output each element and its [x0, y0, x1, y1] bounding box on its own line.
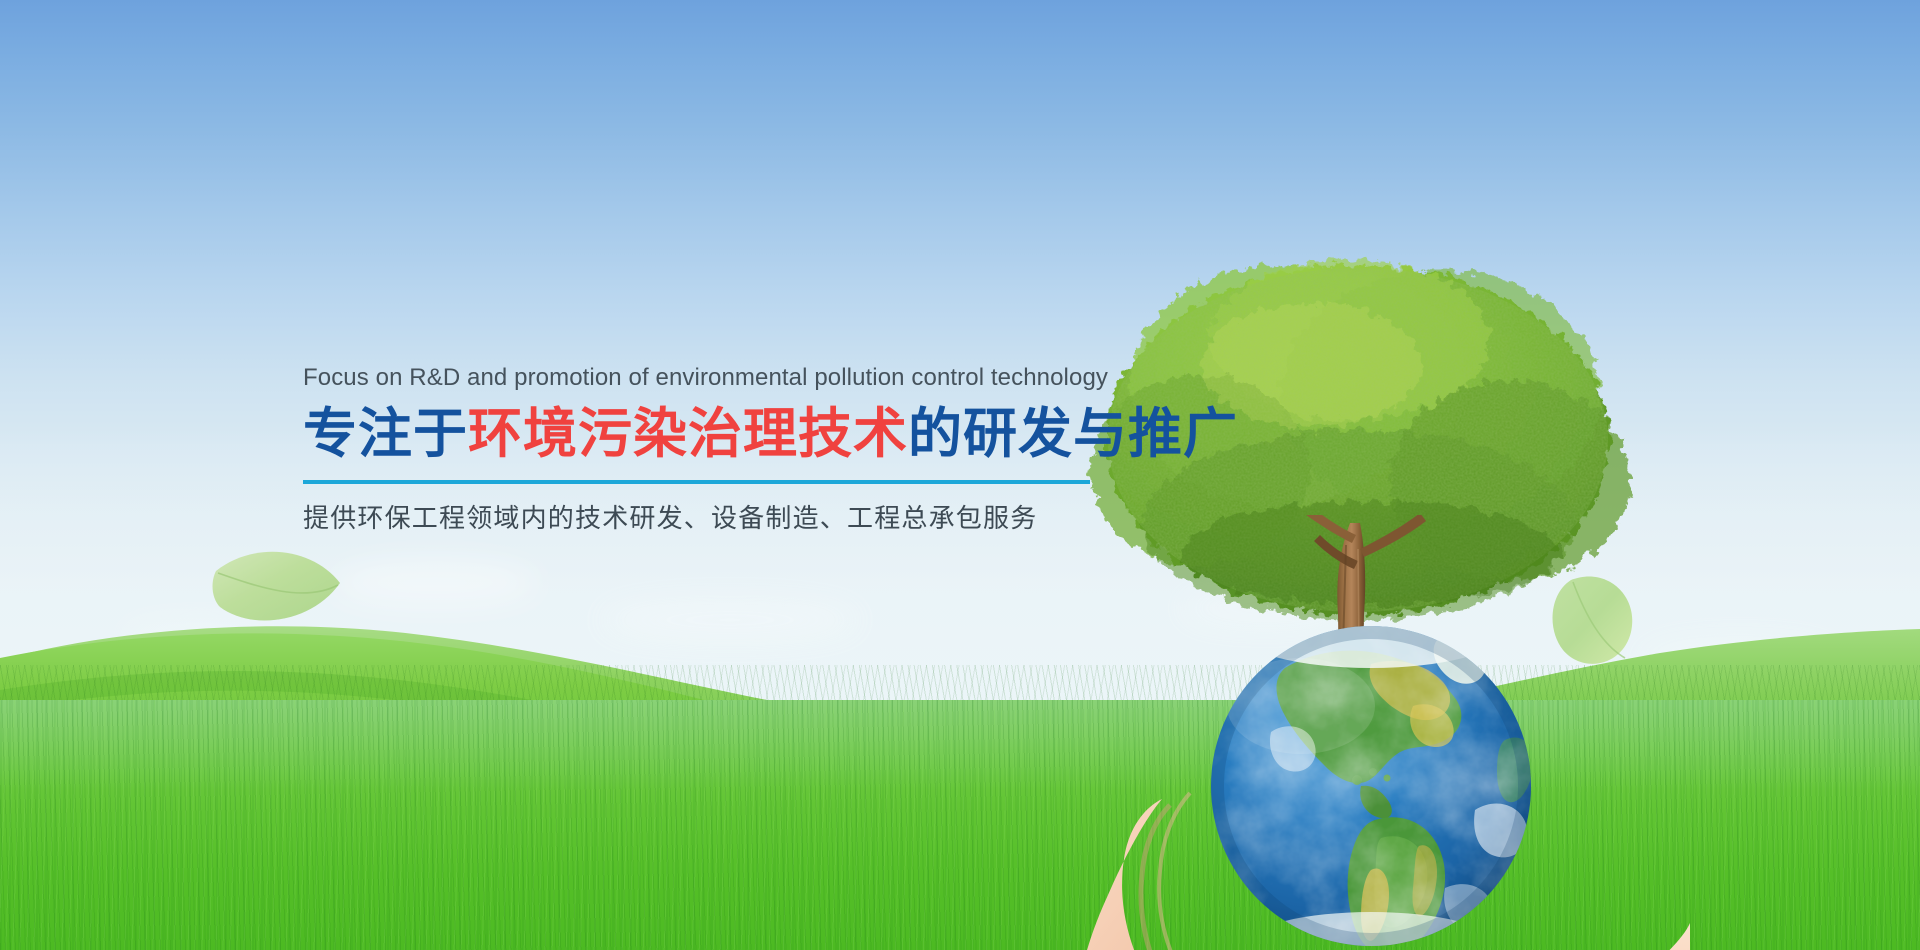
headline-highlight: 环境污染治理技术: [468, 402, 908, 465]
hero-eyebrow-english: Focus on R&D and promotion of environmen…: [303, 363, 1103, 393]
hero-headline: 专注于环境污染治理技术的研发与推广: [303, 402, 1103, 466]
cupped-hands-icon: [1050, 735, 1690, 950]
headline-prefix: 专注于: [303, 402, 468, 465]
hero-banner: Focus on R&D and promotion of environmen…: [0, 0, 1920, 950]
tree-earth-hands-composition: [1080, 235, 1640, 950]
hero-copy-block: Focus on R&D and promotion of environmen…: [303, 363, 1103, 536]
headline-divider-rule: [303, 480, 1090, 484]
leaf-icon: [208, 545, 348, 640]
hero-tagline: 提供环保工程领域内的技术研发、设备制造、工程总承包服务: [303, 502, 1103, 536]
headline-suffix: 的研发与推广: [908, 402, 1238, 465]
